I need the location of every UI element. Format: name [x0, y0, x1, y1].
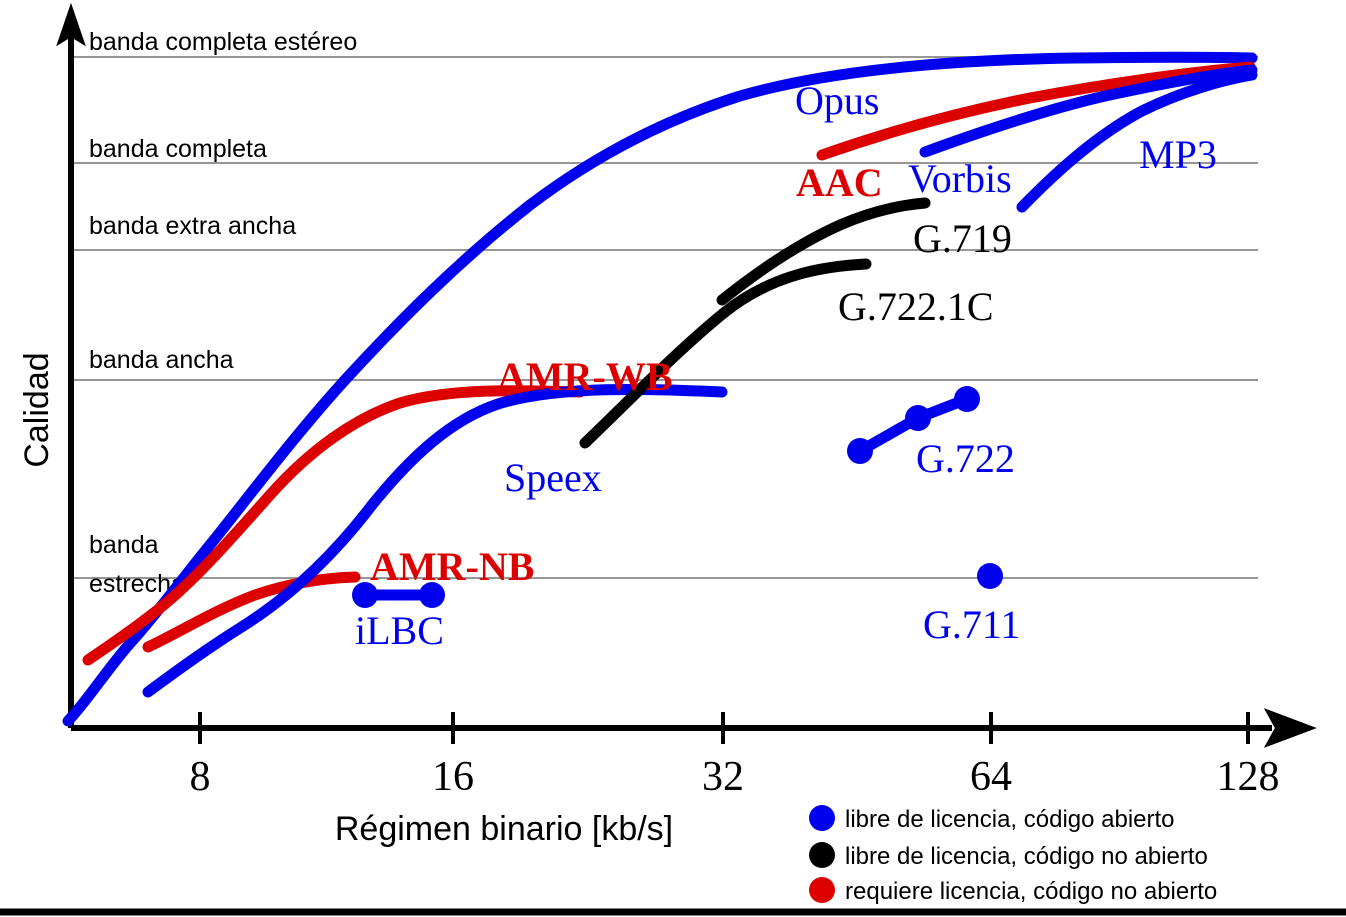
y-label-banda-completa: banda completa: [89, 135, 267, 163]
legend-label-licensed-closed: requiere licencia, código no abierto: [845, 878, 1217, 905]
legend-swatch-red: [809, 877, 835, 903]
g722-point-2: [905, 405, 931, 431]
codec-label-g722: G.722: [916, 436, 1015, 481]
codec-quality-chart: banda completa estéreo banda completa ba…: [0, 0, 1346, 917]
y-label-banda-extra-ancha: banda extra ancha: [89, 212, 296, 240]
xtick-label-16: 16: [432, 754, 474, 800]
y-axis-title: Calidad: [18, 352, 56, 467]
codec-label-amr-nb: AMR-NB: [370, 544, 534, 589]
y-label-banda-ancha: banda ancha: [89, 346, 234, 374]
codec-label-g719: G.719: [913, 216, 1012, 261]
codec-label-aac: AAC: [796, 160, 883, 205]
g711-point-1: [977, 563, 1003, 589]
legend-label-free-closed: libre de licencia, código no abierto: [845, 843, 1208, 870]
y-label-banda-completa-estereo: banda completa estéreo: [89, 28, 357, 56]
legend: libre de licencia, código abierto libre …: [809, 805, 1217, 905]
codec-label-amr-wb: AMR-WB: [497, 354, 673, 399]
x-axis-title: Régimen binario [kb/s]: [335, 810, 673, 848]
g722-point-3: [954, 386, 980, 412]
codec-label-mp3: MP3: [1139, 132, 1217, 177]
xtick-label-8: 8: [190, 754, 211, 800]
legend-swatch-black: [809, 842, 835, 868]
xtick-label-128: 128: [1217, 754, 1280, 800]
codec-label-g7221c: G.722.1C: [838, 284, 994, 329]
y-label-banda-line1: banda: [89, 531, 159, 559]
codec-label-opus: Opus: [795, 78, 879, 123]
codec-label-g711: G.711: [923, 602, 1020, 647]
xtick-label-32: 32: [702, 754, 744, 800]
g722-point-1: [847, 438, 873, 464]
legend-swatch-blue: [809, 805, 835, 831]
codec-label-speex: Speex: [504, 455, 602, 500]
codec-label-ilbc: iLBC: [355, 608, 444, 653]
legend-label-free-open: libre de licencia, código abierto: [845, 806, 1175, 833]
xtick-label-64: 64: [970, 754, 1012, 800]
codec-label-vorbis: Vorbis: [908, 156, 1012, 201]
